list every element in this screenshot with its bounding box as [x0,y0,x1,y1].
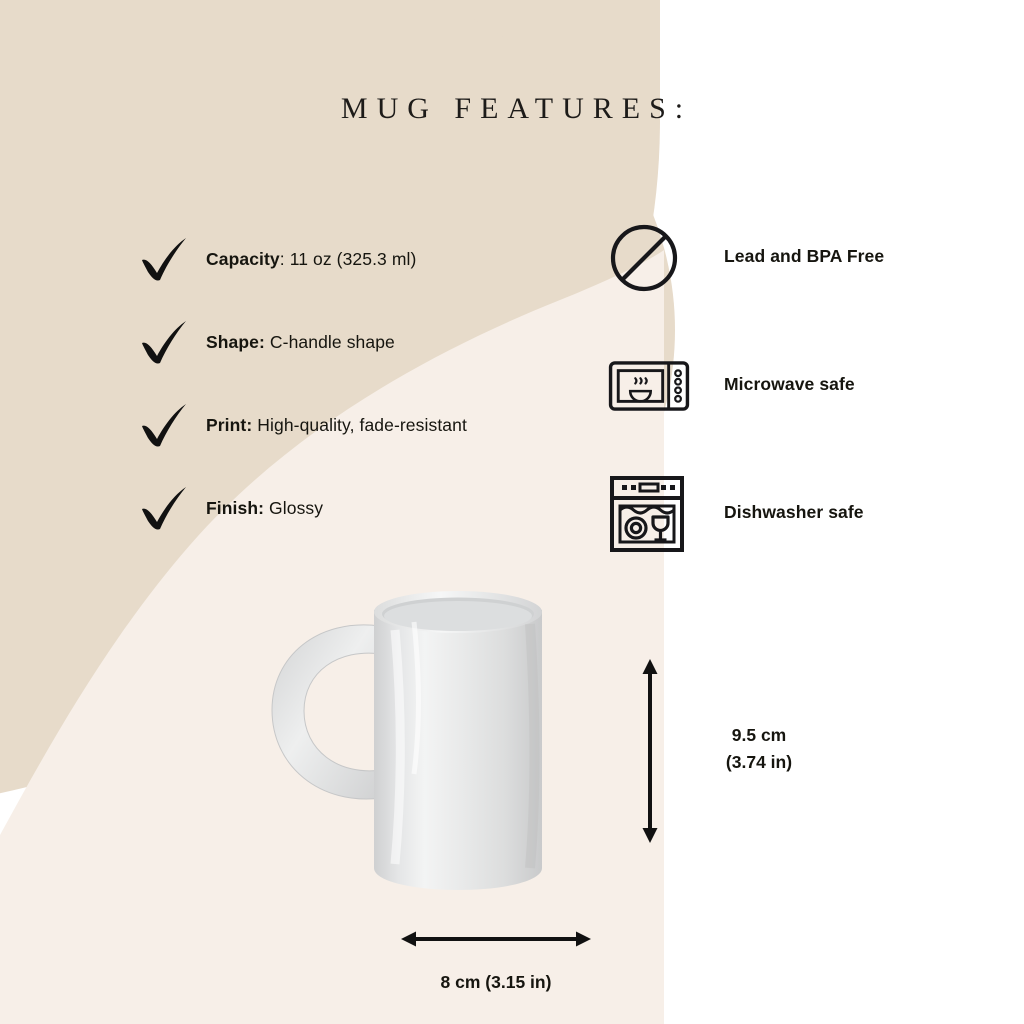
feature-item-print: Print: High-quality, fade-resistant [138,398,608,481]
feature-text-capacity: Capacity: 11 oz (325.3 ml) [206,249,416,270]
feature-item-capacity: Capacity: 11 oz (325.3 ml) [138,232,608,315]
feature-item-shape: Shape: C-handle shape [138,315,608,398]
checkmark-icon [138,398,194,454]
dishwasher-icon-wrap [608,478,690,550]
checkmark-icon [138,315,194,371]
safety-label-microwave-safe: Microwave safe [724,374,855,395]
feature-label-finish: Finish: [206,498,264,518]
microwave-icon-wrap [608,350,690,422]
height-dimension-arrow [636,658,664,844]
height-imperial: (3.74 in) [664,749,854,776]
feature-value-print: High-quality, fade-resistant [257,415,467,435]
mug-product-image [262,578,622,908]
feature-item-finish: Finish: Glossy [138,481,608,564]
feature-value-finish: Glossy [269,498,323,518]
width-dimension-arrow [400,926,592,952]
dishwasher-icon [608,474,686,554]
feature-list: Capacity: 11 oz (325.3 ml) Shape: C-hand… [138,232,608,564]
safety-list: Lead and BPA Free Microwave safe [608,222,1008,606]
checkmark-icon [138,481,194,537]
safety-item-microwave-safe: Microwave safe [608,350,1008,478]
safety-label-lead-bpa-free: Lead and BPA Free [724,246,884,267]
feature-text-finish: Finish: Glossy [206,498,323,519]
page-title: MUG FEATURES: [0,92,1024,126]
height-metric: 9.5 cm [664,722,854,749]
checkmark-icon [138,232,194,288]
feature-text-print: Print: High-quality, fade-resistant [206,415,467,436]
safety-item-lead-bpa-free: Lead and BPA Free [608,222,1008,350]
no-symbol-icon [608,222,680,294]
product-feature-infographic: MUG FEATURES: Capacity: 11 oz (325.3 ml)… [0,0,1024,1024]
feature-sep-capacity: : [280,249,290,269]
feature-text-shape: Shape: C-handle shape [206,332,395,353]
feature-label-shape: Shape: [206,332,265,352]
no-symbol-icon-wrap [608,222,690,294]
feature-label-print: Print: [206,415,252,435]
width-dimension-label: 8 cm (3.15 in) [310,972,682,993]
mug-illustration [262,578,622,908]
feature-value-shape: C-handle shape [270,332,395,352]
safety-item-dishwasher-safe: Dishwasher safe [608,478,1008,606]
feature-value-capacity: 11 oz (325.3 ml) [290,249,417,269]
mug-shadow-right [530,624,535,868]
mug-handle [272,625,382,799]
feature-label-capacity: Capacity [206,249,280,269]
height-dimension-label: 9.5 cm (3.74 in) [664,722,854,776]
microwave-icon [608,352,690,420]
mug-interior [384,601,532,631]
safety-label-dishwasher-safe: Dishwasher safe [724,502,864,523]
